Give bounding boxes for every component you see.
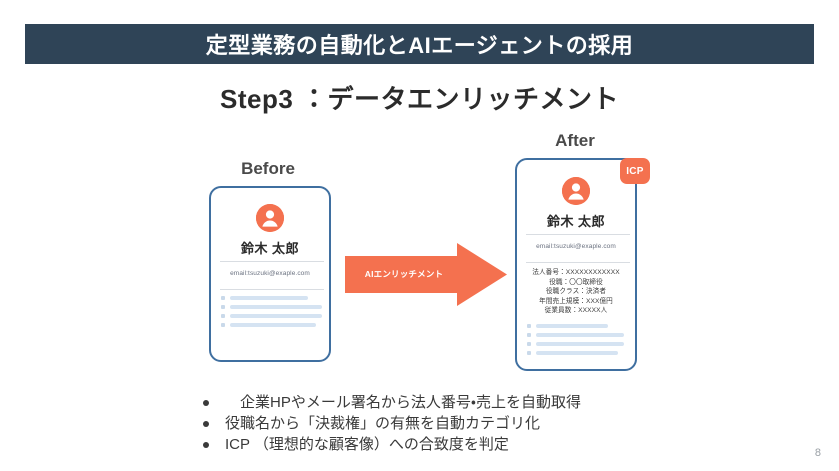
placeholder-bullet-icon — [221, 314, 225, 318]
divider — [220, 261, 324, 262]
list-item: 企業HPやメール署名から法人番号・売上を自動取得 — [203, 392, 673, 413]
after-placeholder-rows — [527, 324, 629, 360]
arrow-label: AIエンリッチメント — [345, 268, 463, 280]
bullet-dot-icon — [203, 400, 209, 406]
placeholder-bullet-icon — [221, 305, 225, 309]
placeholder-row — [221, 314, 323, 318]
placeholder-bullet-icon — [527, 324, 531, 328]
list-item: 役職名から「決裁権」の有無を自動カテゴリ化 — [203, 413, 673, 434]
user-avatar-icon — [256, 204, 284, 232]
before-placeholder-rows — [221, 296, 323, 332]
placeholder-row — [527, 333, 629, 337]
detail-line: 役職クラス：決済者 — [517, 287, 635, 297]
list-item-label: ICP （理想的な顧客像）への合致度を判定 — [225, 434, 509, 455]
page-title: 定型業務の自動化とAIエージェントの採用 — [206, 28, 634, 60]
user-avatar-icon — [562, 177, 590, 205]
placeholder-bullet-icon — [527, 351, 531, 355]
detail-line: 役職：〇〇取締役 — [517, 278, 635, 288]
summary-bullet-list: 企業HPやメール署名から法人番号・売上を自動取得 役職名から「決裁権」の有無を自… — [203, 392, 673, 455]
slide-canvas: 定型業務の自動化とAIエージェントの採用 Step3 ：データエンリッチメント … — [0, 0, 839, 471]
placeholder-bullet-icon — [527, 342, 531, 346]
detail-line: 法人番号：XXXXXXXXXXXX — [517, 268, 635, 278]
placeholder-bar — [536, 342, 624, 346]
bullet-dot-icon — [203, 421, 209, 427]
page-number: 8 — [815, 447, 821, 459]
detail-line: 従業員数：XXXXX人 — [517, 306, 635, 316]
placeholder-bar — [230, 296, 308, 300]
detail-line: 年間売上規模：XXX億円 — [517, 297, 635, 307]
placeholder-bullet-icon — [221, 323, 225, 327]
after-contact-name: 鈴木 太郎 — [517, 211, 635, 230]
after-contact-card: 鈴木 太郎 email:tsuzuki@exaple.com 法人番号：XXXX… — [515, 158, 637, 371]
list-item: ICP （理想的な顧客像）への合致度を判定 — [203, 434, 673, 455]
before-contact-email: email:tsuzuki@exaple.com — [211, 270, 329, 277]
placeholder-bullet-icon — [221, 296, 225, 300]
enrichment-arrow: AIエンリッチメント — [345, 243, 507, 306]
placeholder-bar — [536, 333, 624, 337]
after-contact-email: email:tsuzuki@exaple.com — [517, 243, 635, 250]
enriched-detail-list: 法人番号：XXXXXXXXXXXX 役職：〇〇取締役 役職クラス：決済者 年間売… — [517, 268, 635, 316]
placeholder-bar — [536, 351, 618, 355]
before-contact-name: 鈴木 太郎 — [211, 238, 329, 257]
icp-badge: ICP — [620, 158, 650, 184]
placeholder-row — [527, 351, 629, 355]
placeholder-bar — [536, 324, 608, 328]
divider — [526, 234, 630, 235]
list-item-label: 役職名から「決裁権」の有無を自動カテゴリ化 — [225, 413, 540, 434]
header-band: 定型業務の自動化とAIエージェントの採用 — [25, 24, 814, 64]
placeholder-bar — [230, 305, 322, 309]
bullet-dot-icon — [203, 442, 209, 448]
placeholder-row — [221, 296, 323, 300]
list-item-label: 企業HPやメール署名から法人番号・売上を自動取得 — [225, 392, 581, 413]
placeholder-row — [221, 323, 323, 327]
placeholder-row — [527, 342, 629, 346]
before-label: Before — [198, 159, 338, 179]
before-contact-card: 鈴木 太郎 email:tsuzuki@exaple.com — [209, 186, 331, 362]
placeholder-bar — [230, 314, 322, 318]
placeholder-row — [527, 324, 629, 328]
placeholder-bar — [230, 323, 316, 327]
placeholder-bullet-icon — [527, 333, 531, 337]
divider — [220, 289, 324, 290]
after-label: After — [505, 131, 645, 151]
divider — [526, 262, 630, 263]
step-subtitle: Step3 ：データエンリッチメント — [0, 79, 839, 116]
placeholder-row — [221, 305, 323, 309]
